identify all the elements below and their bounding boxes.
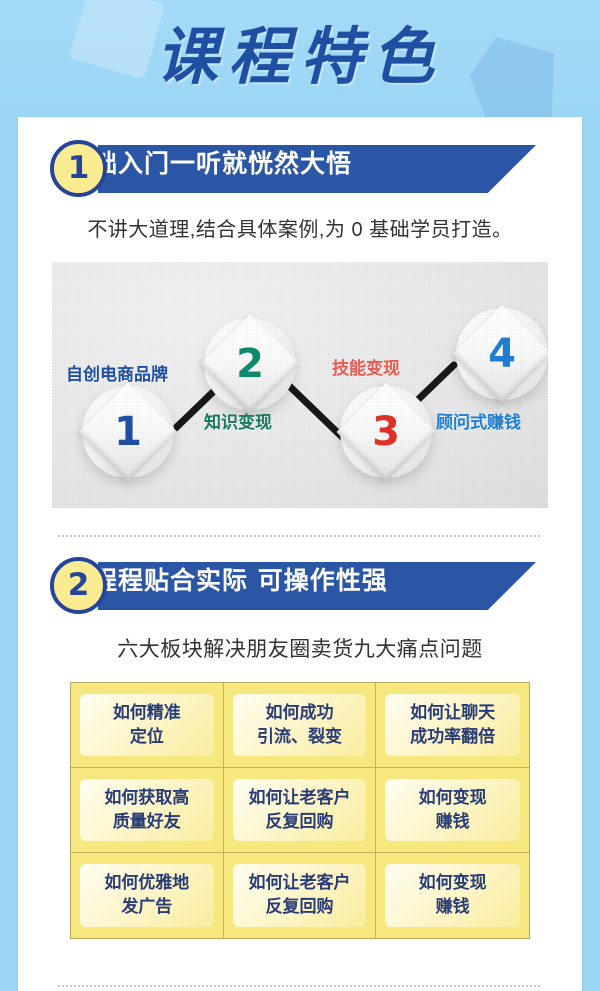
diagram-node-2-number: 2 [204, 318, 296, 410]
diagram-node-2: 2 [204, 318, 296, 410]
section-divider-1 [58, 535, 542, 537]
diagram-node-3: 3 [340, 386, 432, 478]
diagram-node-3-number: 3 [340, 386, 432, 478]
content-card: 基础入门一听就恍然大悟 1 不讲大道理,结合具体案例,为 0 基础学员打造。 1… [18, 117, 582, 991]
grid-cell: 如何让老客户 反复回购 [224, 768, 377, 853]
grid-cell-label: 如何让老客户 反复回购 [233, 779, 366, 841]
grid-cell: 如何让聊天 成功率翻倍 [376, 683, 529, 768]
diagram-node-2-label: 知识变现 [204, 408, 272, 433]
grid-cell: 如何成功 引流、裂变 [224, 683, 377, 768]
section-1-badge: 1 [50, 140, 107, 197]
diagram-node-4: 4 [456, 308, 548, 400]
grid-cell-label: 如何成功 引流、裂变 [233, 694, 366, 756]
grid-cell-label: 如何变现 赚钱 [385, 779, 519, 841]
section-1-header: 基础入门一听就恍然大悟 1 [36, 140, 556, 198]
grid-cell: 如何优雅地 发广告 [71, 853, 224, 938]
grid-cell: 如何精准 定位 [71, 683, 224, 768]
page-header: 课程特色 [0, 0, 600, 122]
diagram-node-1-label: 自创电商品牌 [66, 360, 168, 385]
section-divider-2 [58, 985, 542, 987]
diagram-node-1: 1 [82, 386, 174, 478]
grid-cell: 如何变现 赚钱 [376, 853, 529, 938]
grid-cell-label: 如何获取高 质量好友 [80, 779, 213, 841]
grid-cell-label: 如何优雅地 发广告 [80, 864, 213, 927]
section-2-header: 教程程贴合实际 可操作性强 2 [36, 557, 556, 615]
grid-cell-label: 如何变现 赚钱 [385, 864, 519, 927]
feature-grid: 如何精准 定位 如何成功 引流、裂变 如何让聊天 成功率翻倍 如何获取高 质量好… [70, 682, 530, 939]
diagram-node-4-number: 4 [456, 308, 548, 400]
section-2-banner-label: 教程程贴合实际 可操作性强 [66, 557, 388, 605]
grid-cell: 如何获取高 质量好友 [71, 768, 224, 853]
grid-cell: 如何让老客户 反复回购 [224, 853, 377, 938]
page-root: 课程特色 基础入门一听就恍然大悟 1 不讲大道理,结合具体案例,为 0 基础学员… [0, 0, 600, 991]
section-1-description: 不讲大道理,结合具体案例,为 0 基础学员打造。 [18, 213, 582, 242]
grid-cell-label: 如何精准 定位 [80, 694, 213, 756]
diagram-node-4-label: 顾问式赚钱 [436, 408, 521, 433]
grid-cell-label: 如何让聊天 成功率翻倍 [385, 694, 519, 756]
process-diagram: 1 2 3 4 自创电商品牌 知识变现 技能变现 顾问式赚钱 [52, 262, 548, 508]
grid-cell-label: 如何让老客户 反复回购 [233, 864, 366, 927]
diagram-node-3-label: 技能变现 [332, 354, 400, 379]
section-2-description: 六大板块解决朋友圈卖货九大痛点问题 [18, 633, 582, 663]
page-title: 课程特色 [0, 16, 600, 98]
section-2-badge: 2 [50, 557, 107, 614]
grid-cell: 如何变现 赚钱 [376, 768, 529, 853]
diagram-node-1-number: 1 [82, 386, 174, 478]
section-1-banner-label: 基础入门一听就恍然大悟 [66, 140, 352, 188]
